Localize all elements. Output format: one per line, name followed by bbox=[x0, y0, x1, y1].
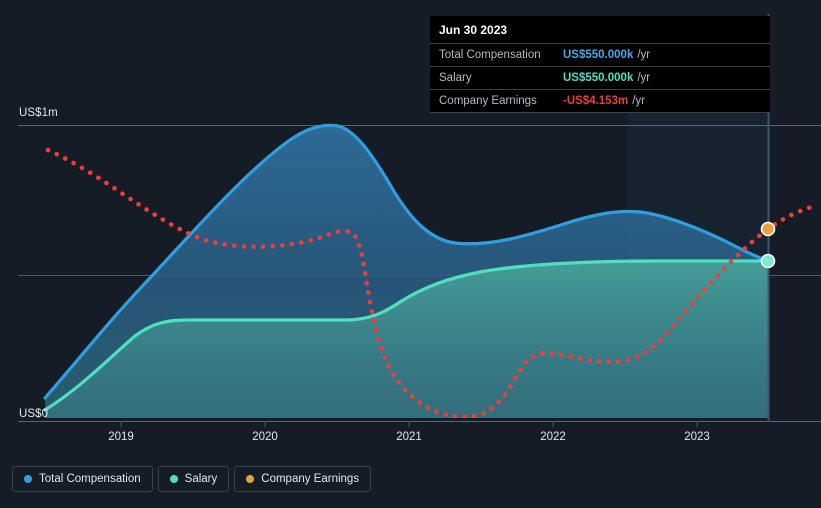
tooltip-row-salary: Salary US$550.000k /yr bbox=[430, 66, 770, 89]
company-earnings-marker[interactable] bbox=[762, 223, 775, 236]
tooltip-row-total-compensation: Total Compensation US$550.000k /yr bbox=[430, 43, 770, 66]
y-axis-label-zero: US$0 bbox=[19, 408, 48, 420]
tooltip-value-salary: US$550.000k bbox=[563, 72, 633, 84]
y-axis-label-top: US$1m bbox=[19, 107, 58, 119]
tooltip-row-company-earnings: Company Earnings -US$4.153m /yr bbox=[430, 89, 770, 113]
legend-dot-total-compensation bbox=[24, 475, 32, 483]
legend-label-salary: Salary bbox=[185, 473, 218, 485]
legend-item-company-earnings[interactable]: Company Earnings bbox=[234, 466, 371, 492]
x-axis-label-2023: 2023 bbox=[684, 431, 710, 443]
chart-tooltip: Jun 30 2023 Total Compensation US$550.00… bbox=[430, 16, 770, 113]
tooltip-label-total-compensation: Total Compensation bbox=[439, 49, 563, 61]
x-axis-label-2020: 2020 bbox=[252, 431, 278, 443]
tooltip-label-company-earnings: Company Earnings bbox=[439, 95, 563, 107]
tooltip-value-total-compensation: US$550.000k bbox=[563, 49, 633, 61]
legend-item-salary[interactable]: Salary bbox=[158, 466, 230, 492]
x-axis-label-2021: 2021 bbox=[396, 431, 422, 443]
legend-item-total-compensation[interactable]: Total Compensation bbox=[12, 466, 153, 492]
tooltip-unit-company-earnings: /yr bbox=[632, 95, 645, 107]
x-axis-label-2022: 2022 bbox=[540, 431, 566, 443]
salary-marker[interactable] bbox=[762, 255, 775, 268]
tooltip-label-salary: Salary bbox=[439, 72, 563, 84]
tooltip-value-company-earnings: -US$4.153m bbox=[563, 95, 628, 107]
tooltip-unit-total-compensation: /yr bbox=[637, 49, 650, 61]
x-axis-label-2019: 2019 bbox=[108, 431, 134, 443]
tooltip-date: Jun 30 2023 bbox=[430, 22, 770, 43]
legend-label-total-compensation: Total Compensation bbox=[39, 473, 141, 485]
tooltip-unit-salary: /yr bbox=[637, 72, 650, 84]
employee-compensation-chart: US$1m US$0 2019 2020 2021 2022 2023 Jun … bbox=[0, 0, 821, 508]
legend-label-company-earnings: Company Earnings bbox=[261, 473, 359, 485]
legend-dot-salary bbox=[170, 475, 178, 483]
chart-legend: Total Compensation Salary Company Earnin… bbox=[12, 466, 371, 492]
legend-dot-company-earnings bbox=[246, 475, 254, 483]
